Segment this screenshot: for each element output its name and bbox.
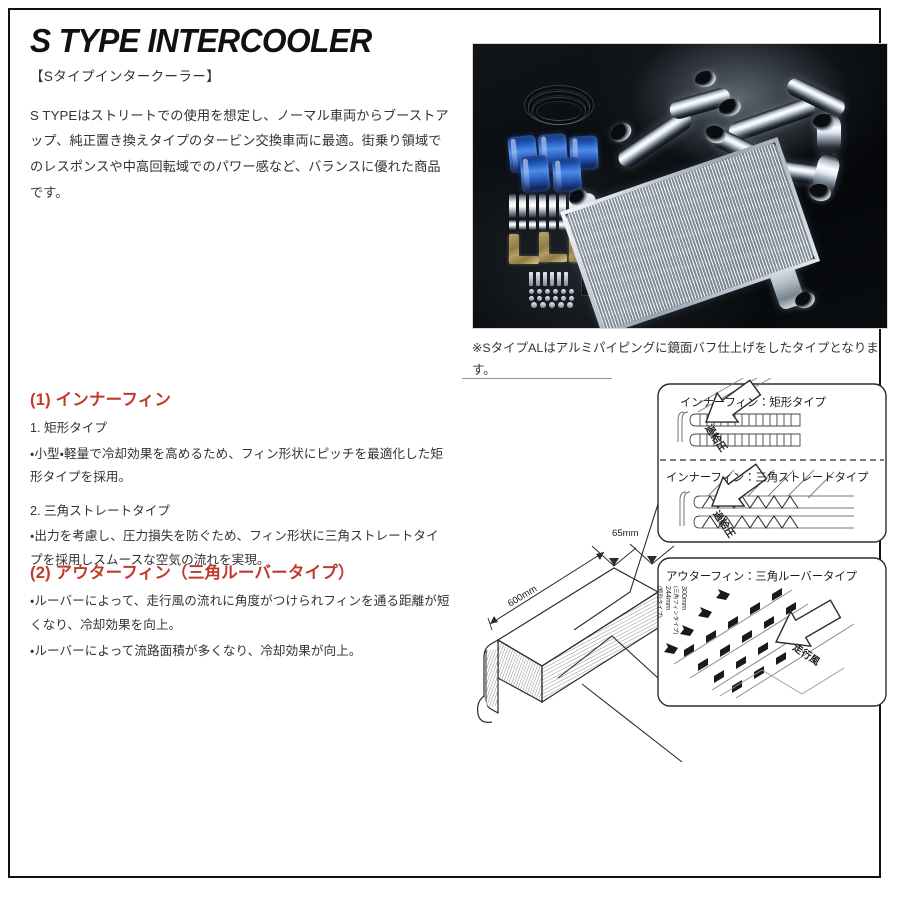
height-rect-note: (矩形タイプ) (656, 586, 662, 618)
height-triangle-value: 300mm (680, 586, 689, 610)
dimension-label-height: 300mm (三角フィンタイプ) 244mm (矩形タイプ) (655, 586, 688, 634)
section-1-heading: (1) インナーフィン (30, 390, 450, 411)
panel-1-title: インナーフィン：矩形タイプ (680, 394, 826, 410)
pipe-opening (813, 114, 835, 131)
mounting-bracket (509, 256, 539, 264)
panel-2-title: インナーフィン：三角ストレートタイプ (666, 469, 868, 485)
section-2-heading: (2) アウターフィン（三角ルーバータイプ） (30, 563, 450, 584)
vacuum-hose-coil (533, 98, 585, 124)
photo-caption: ※SタイプALはアルミパイピングに鏡面バフ仕上げをしたタイプとなります。 (472, 337, 890, 381)
panel-3-title: アウターフィン：三角ルーバータイプ (666, 568, 857, 584)
mounting-bracket (539, 254, 567, 262)
section-outer-fin: (2) アウターフィン（三角ルーバータイプ） ・ルーバーによって、走行風の流れに… (30, 563, 450, 673)
product-photo (472, 43, 888, 329)
height-triangle-note: (三角フィンタイプ) (672, 586, 678, 634)
section-1-item-1-label: 1. 矩形タイプ (30, 417, 450, 440)
page-title: S TYPE INTERCOOLER (30, 24, 433, 59)
dimension-label-65mm: 65mm (612, 528, 639, 539)
page-root: S TYPE INTERCOOLER 【Sタイプインタークーラー】 S TYPE… (0, 0, 900, 900)
document-sheet: S TYPE INTERCOOLER 【Sタイプインタークーラー】 S TYPE… (8, 8, 881, 878)
silicone-coupler (519, 155, 550, 193)
washer-set (529, 289, 574, 301)
section-1-item-1-body: ・小型・軽量で冷却効果を高めるため、フィン形状にピッチを最適化した矩形タイプを採… (30, 443, 450, 490)
isometric-intercooler (478, 568, 658, 722)
height-rect-value: 244mm (664, 586, 673, 610)
section-inner-fin: (1) インナーフィン 1. 矩形タイプ ・小型・軽量で冷却効果を高めるため、フ… (30, 390, 450, 583)
washer-set (531, 302, 573, 308)
section-1-item-2-label: 2. 三角ストレートタイプ (30, 500, 450, 523)
section-2-bullet-2: ・ルーバーによって流路面積が多くなり、冷却効果が向上。 (30, 640, 450, 664)
lead-paragraph: S TYPEはストリートでの使用を想定し、ノーマル車両からブーストアップ、純正置… (30, 103, 450, 206)
silicone-coupler (552, 157, 582, 193)
section-2-bullet-1: ・ルーバーによって、走行風の流れに角度がつけられフィンを通る距離が短くなり、冷却… (30, 590, 450, 637)
page-subtitle: 【Sタイプインタークーラー】 (30, 65, 450, 85)
left-column: S TYPE INTERCOOLER 【Sタイプインタークーラー】 S TYPE… (30, 24, 450, 206)
technical-diagram: インナーフィン：矩形タイプ インナーフィン：三角ストレートタイプ アウターフィン… (462, 378, 892, 860)
bolt-set (529, 272, 568, 286)
